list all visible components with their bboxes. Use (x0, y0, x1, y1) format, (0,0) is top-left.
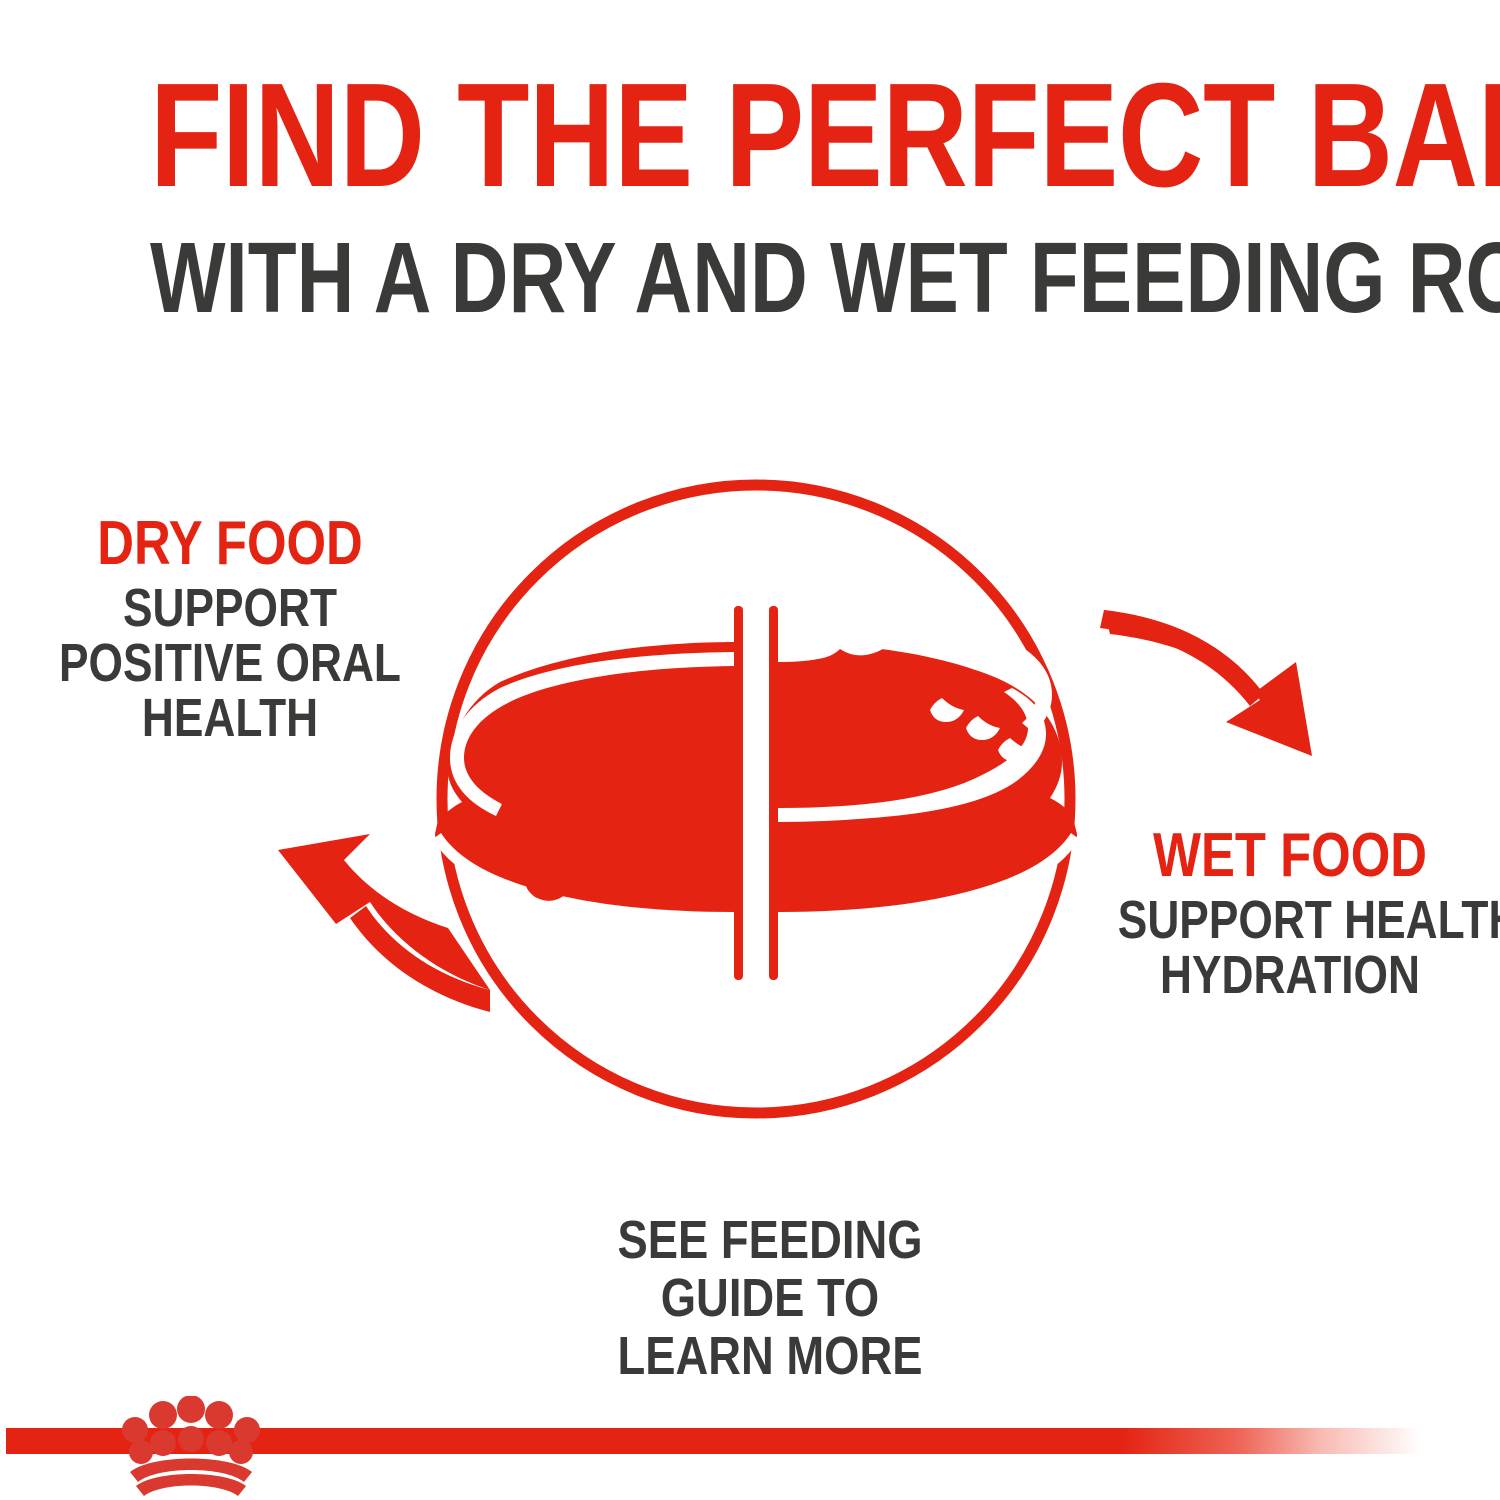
see-feeding-guide-caption: SEE FEEDING GUIDE TO LEARN MORE (540, 1212, 1000, 1385)
royal-canin-crown-icon (108, 1396, 274, 1500)
caption-line-3: LEARN MORE (577, 1328, 963, 1386)
caption-line-2: GUIDE TO (577, 1270, 963, 1328)
dry-kibble-fill (433, 642, 734, 924)
page-subtitle: WITH A DRY AND WET FEEDING ROUTINE (150, 228, 1350, 328)
split-bowl-illustration (160, 450, 1420, 1150)
infographic-page: FIND THE PERFECT BALANCE WITH A DRY AND … (0, 0, 1500, 1500)
page-title: FIND THE PERFECT BALANCE (150, 62, 1350, 210)
caption-line-1: SEE FEEDING (577, 1212, 963, 1270)
headline-block: FIND THE PERFECT BALANCE WITH A DRY AND … (0, 62, 1500, 328)
vertical-split-divider-icon (734, 606, 778, 980)
illustration-svg (160, 450, 1420, 1150)
curved-arrow-down-right-icon (1100, 610, 1312, 756)
